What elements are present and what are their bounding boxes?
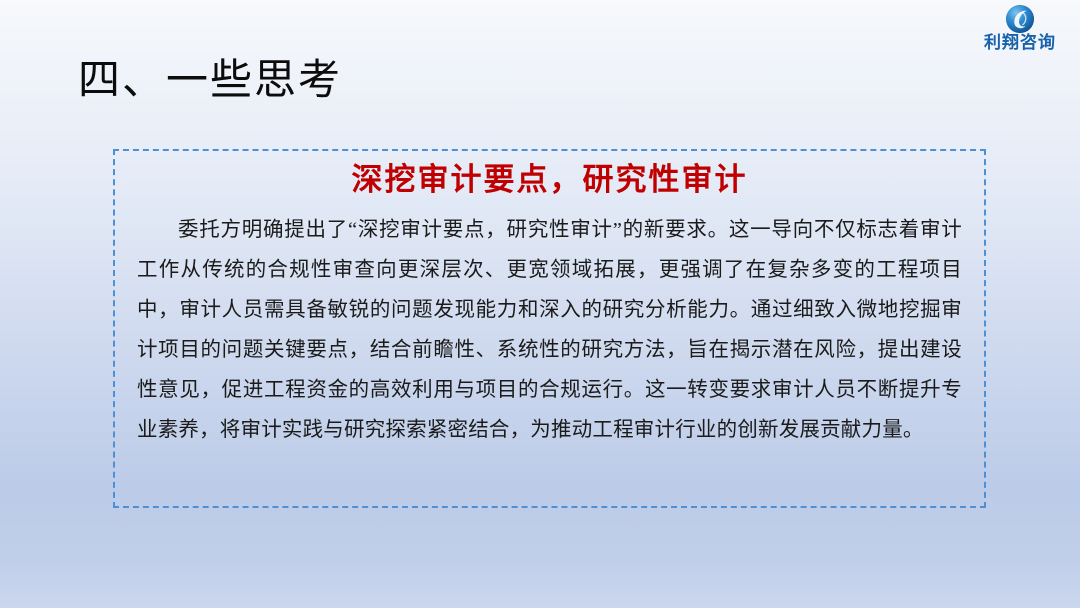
company-logo: 利翔咨询	[968, 4, 1072, 62]
content-body-paragraph: 委托方明确提出了“深挖审计要点，研究性审计”的新要求。这一导向不仅标志着审计工作…	[137, 210, 962, 450]
lixiang-swirl-logo-icon	[1005, 4, 1035, 34]
page-title: 四、一些思考	[78, 57, 342, 105]
slide-canvas: 利翔咨询 四、一些思考 深挖审计要点，研究性审计 委托方明确提出了“深挖审计要点…	[0, 0, 1080, 608]
content-heading: 深挖审计要点，研究性审计	[137, 161, 962, 200]
logo-company-name: 利翔咨询	[984, 35, 1056, 52]
content-box: 深挖审计要点，研究性审计 委托方明确提出了“深挖审计要点，研究性审计”的新要求。…	[113, 149, 986, 508]
